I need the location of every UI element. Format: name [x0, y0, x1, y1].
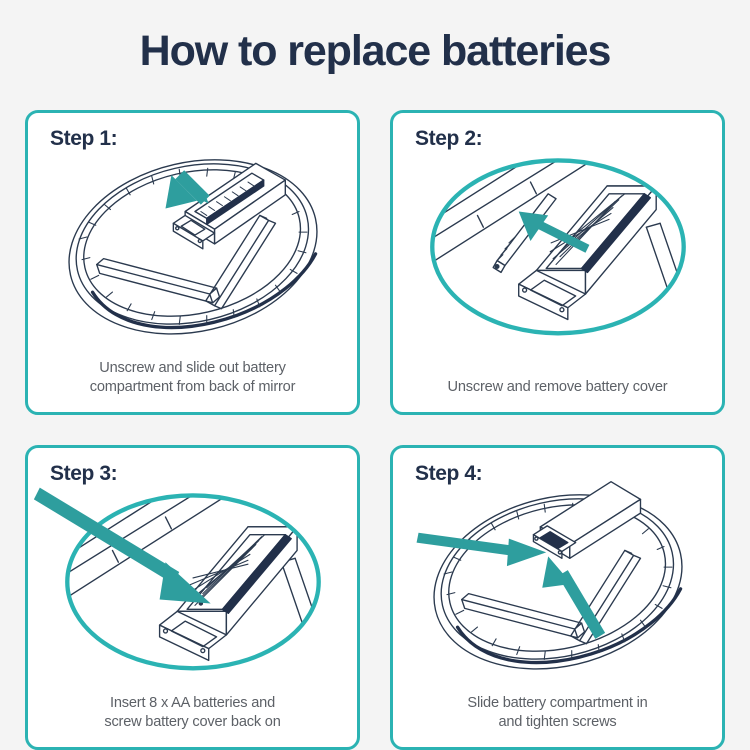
- step-caption-1: Unscrew and slide out battery compartmen…: [38, 359, 347, 398]
- step-card-2: Step 2:: [390, 110, 725, 415]
- page-title: How to replace batteries: [0, 28, 750, 75]
- step-illustration-2: [393, 119, 722, 359]
- step-caption-2: Unscrew and remove battery cover: [403, 378, 712, 398]
- caption-line-2: screw battery cover back on: [38, 713, 347, 733]
- step-label-2: Step 2:: [415, 127, 482, 151]
- step-label-4: Step 4:: [415, 462, 482, 486]
- step-illustration-3: [28, 454, 357, 694]
- caption-line-1: Slide battery compartment in: [403, 694, 712, 714]
- arrow-right: [417, 533, 547, 566]
- caption-line-1: Unscrew and remove battery cover: [403, 378, 712, 398]
- caption-line-1: Unscrew and slide out battery: [38, 359, 347, 379]
- caption-line-2: and tighten screws: [403, 713, 712, 733]
- step-illustration-4: [393, 454, 722, 694]
- arrow-down-right: [34, 488, 211, 604]
- step-caption-4: Slide battery compartment in and tighten…: [403, 694, 712, 733]
- step-illustration-1: [28, 119, 357, 359]
- instruction-sheet: How to replace batteries Step 1:: [0, 0, 750, 750]
- step-card-1: Step 1:: [25, 110, 360, 415]
- step-card-3: Step 3:: [25, 445, 360, 750]
- step-card-4: Step 4:: [390, 445, 725, 750]
- steps-grid: Step 1:: [25, 110, 725, 730]
- step-caption-3: Insert 8 x AA batteries and screw batter…: [38, 694, 347, 733]
- step-label-1: Step 1:: [50, 127, 117, 151]
- step-label-3: Step 3:: [50, 462, 117, 486]
- caption-line-2: compartment from back of mirror: [38, 378, 347, 398]
- caption-line-1: Insert 8 x AA batteries and: [38, 694, 347, 714]
